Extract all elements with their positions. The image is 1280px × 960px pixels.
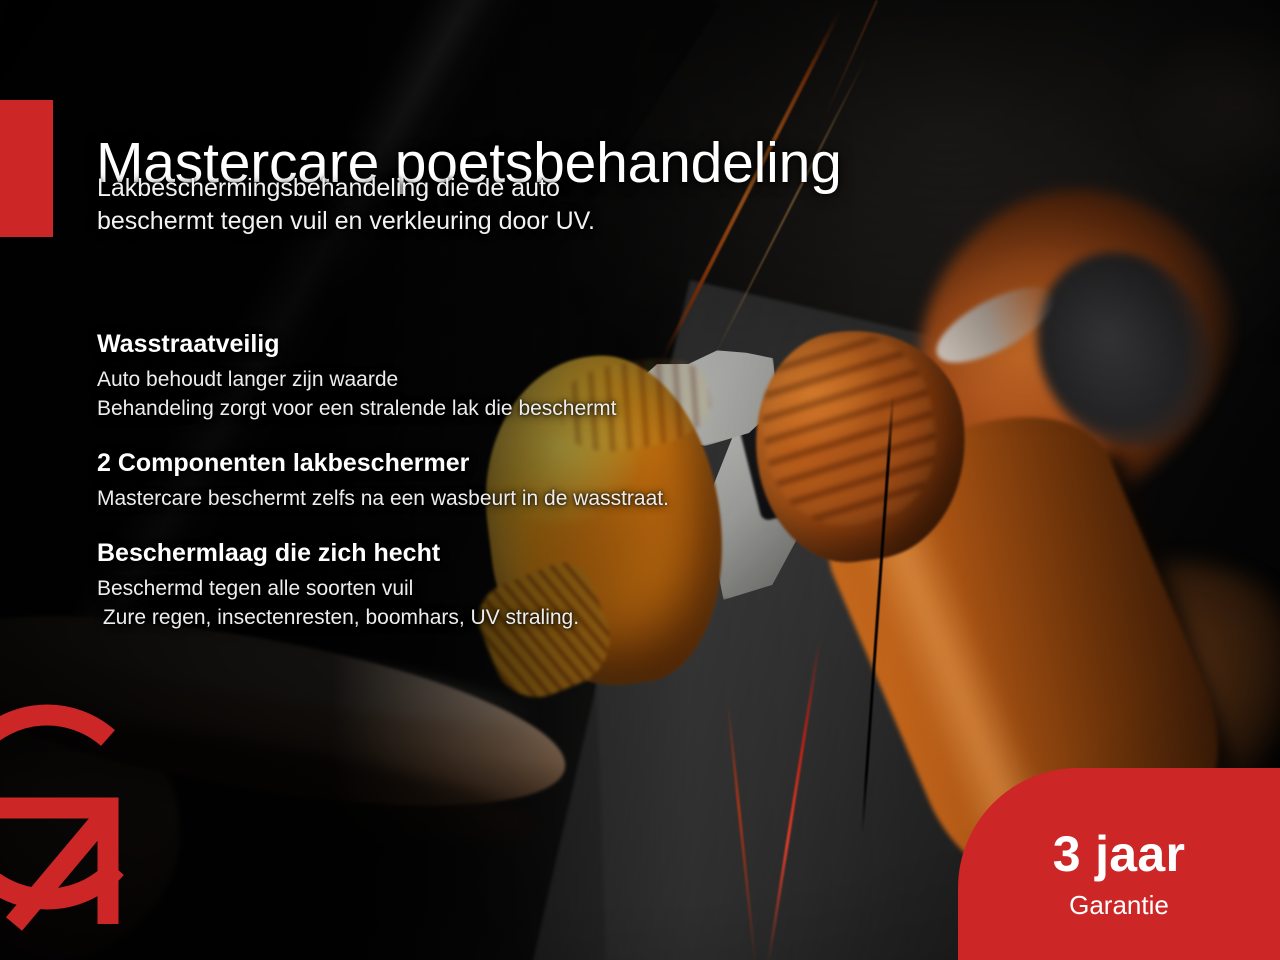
feature-line: Zure regen, insectenresten, boomhars, UV… xyxy=(97,603,797,632)
feature-line: Beschermd tegen alle soorten vuil xyxy=(97,574,797,603)
feature-body: Auto behoudt langer zijn waarde Behandel… xyxy=(97,365,797,424)
guarantee-duration: 3 jaar xyxy=(1053,829,1185,879)
feature-title: 2 Componenten lakbeschermer xyxy=(97,449,797,479)
feature-line: Mastercare beschermt zelfs na een wasbeu… xyxy=(97,484,797,513)
feature-item-2-componenten-lakbeschermer: 2 Componenten lakbeschermer Mastercare b… xyxy=(97,449,797,513)
feature-list: Wasstraatveilig Auto behoudt langer zijn… xyxy=(97,330,797,632)
subtitle-line-1: Lakbeschermingsbehandeling die de auto xyxy=(97,172,797,205)
subtitle-line-2: beschermt tegen vuil en verkleuring door… xyxy=(97,205,797,238)
subtitle: Lakbeschermingsbehandeling die de auto b… xyxy=(97,172,797,239)
promo-poster: Mastercare poetsbehandeling Lakbeschermi… xyxy=(0,0,1280,960)
feature-title: Beschermlaag die zich hecht xyxy=(97,539,797,569)
feature-body: Beschermd tegen alle soorten vuil Zure r… xyxy=(97,574,797,633)
feature-line: Behandeling zorgt voor een stralende lak… xyxy=(97,394,797,423)
guarantee-label: Garantie xyxy=(1069,892,1169,918)
feature-title: Wasstraatveilig xyxy=(97,330,797,360)
red-accent-bar xyxy=(0,100,53,237)
feature-body: Mastercare beschermt zelfs na een wasbeu… xyxy=(97,484,797,513)
feature-line: Auto behoudt langer zijn waarde xyxy=(97,365,797,394)
feature-item-wasstraatveilig: Wasstraatveilig Auto behoudt langer zijn… xyxy=(97,330,797,423)
arrow-in-circle-logo xyxy=(0,672,168,960)
feature-item-beschermlaag-die-zich-hecht: Beschermlaag die zich hecht Beschermd te… xyxy=(97,539,797,632)
guarantee-badge: 3 jaar Garantie xyxy=(958,768,1280,960)
